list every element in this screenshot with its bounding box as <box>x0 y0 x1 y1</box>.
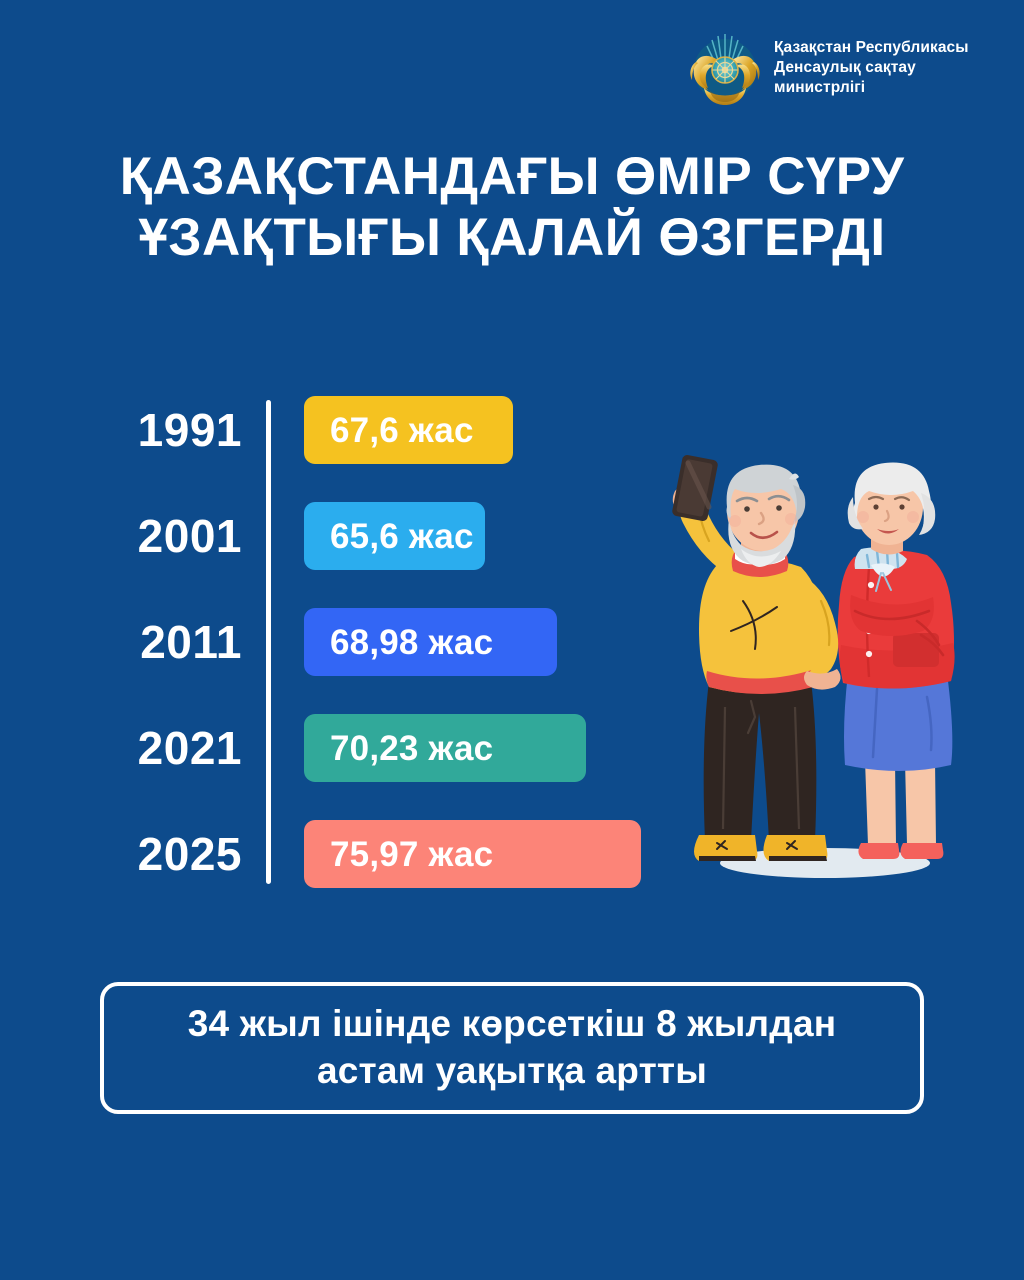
bar-year-label: 2011 <box>60 619 242 665</box>
bar-2001: 65,6 жас <box>304 502 485 570</box>
ministry-line-1: Қазақстан Республикасы <box>774 38 969 58</box>
bar-2021: 70,23 жас <box>304 714 586 782</box>
bar-value-label: 70,23 жас <box>330 731 493 766</box>
kazakhstan-state-emblem-icon <box>688 26 762 110</box>
bar-value-label: 67,6 жас <box>330 413 474 448</box>
bar-value-label: 75,97 жас <box>330 837 493 872</box>
table-row: 2025 75,97 жас <box>0 820 700 888</box>
smartphone <box>671 454 718 522</box>
table-row: 2001 65,6 жас <box>0 502 700 570</box>
bar-value-label: 65,6 жас <box>330 519 474 554</box>
ministry-line-3: министрлігі <box>774 78 969 98</box>
table-row: 2021 70,23 жас <box>0 714 700 782</box>
elderly-couple-selfie-illustration <box>655 445 995 890</box>
page-title: ҚАЗАҚСТАНДАҒЫ ӨМІР СҮРУ ҰЗАҚТЫҒЫ ҚАЛАЙ Ө… <box>0 146 1024 269</box>
summary-callout-box: 34 жыл ішінде көрсеткіш 8 жылдан астам у… <box>100 982 924 1114</box>
bar-value-label: 68,98 жас <box>330 625 493 660</box>
ministry-logo: Қазақстан Республикасы Денсаулық сақтау … <box>688 26 969 110</box>
table-row: 2011 68,98 жас <box>0 608 700 676</box>
bar-year-label: 2021 <box>60 725 242 771</box>
ministry-line-2: Денсаулық сақтау <box>774 58 969 78</box>
elderly-woman <box>838 463 955 859</box>
bar-1991: 67,6 жас <box>304 396 513 464</box>
summary-callout-text: 34 жыл ішінде көрсеткіш 8 жылдан астам у… <box>144 1001 880 1094</box>
table-row: 1991 67,6 жас <box>0 396 700 464</box>
bar-year-label: 2001 <box>60 513 242 559</box>
ministry-name: Қазақстан Республикасы Денсаулық сақтау … <box>774 38 969 97</box>
bar-year-label: 2025 <box>60 831 242 877</box>
bar-2011: 68,98 жас <box>304 608 557 676</box>
infographic-page: Қазақстан Республикасы Денсаулық сақтау … <box>0 0 1024 1280</box>
bar-year-label: 1991 <box>60 407 242 453</box>
elderly-man <box>671 454 840 861</box>
bar-2025: 75,97 жас <box>304 820 641 888</box>
